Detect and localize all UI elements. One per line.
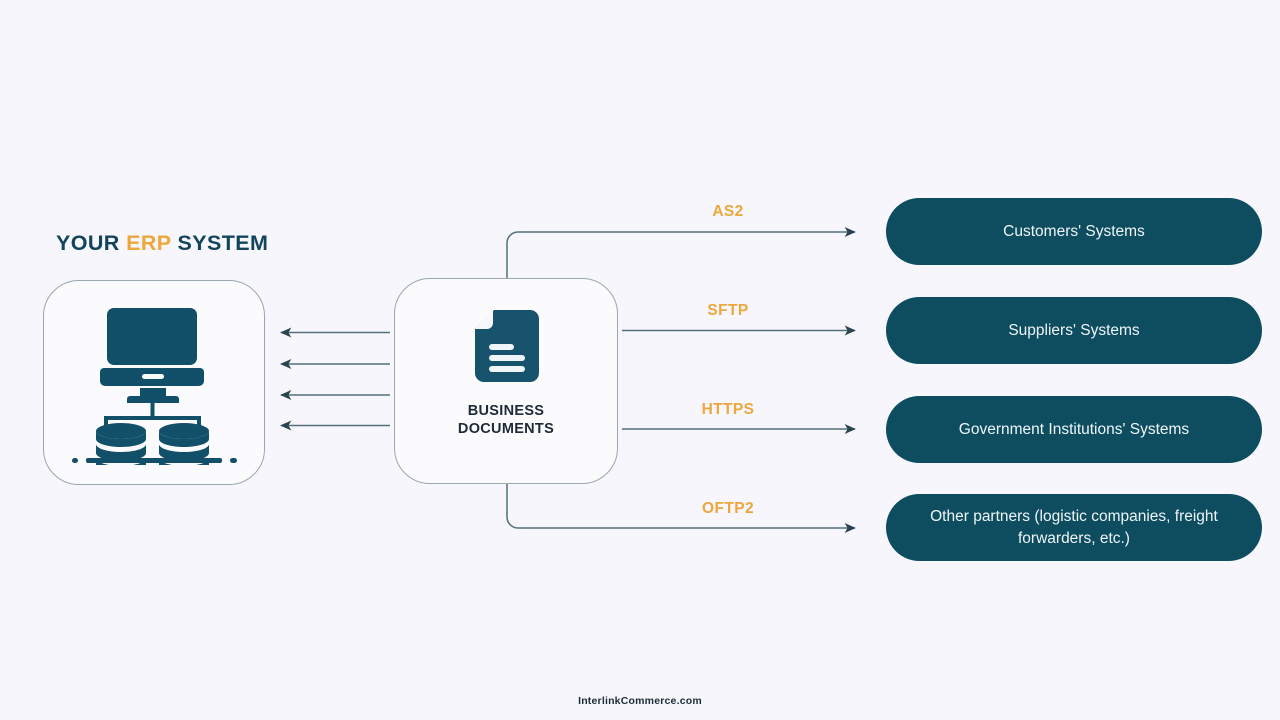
erp-title-accent: ERP	[126, 231, 171, 255]
protocol-label-as2: AS2	[648, 203, 808, 221]
protocol-label-oftp2: OFTP2	[648, 500, 808, 518]
erp-title-suffix: SYSTEM	[178, 231, 269, 255]
footer-branding: InterlinkCommerce.com	[0, 695, 1280, 707]
partner-pill-government: Government Institutions' Systems	[886, 396, 1262, 463]
business-documents-label: BUSINESS DOCUMENTS	[394, 402, 618, 438]
protocol-label-https: HTTPS	[648, 401, 808, 419]
diagram-canvas: YOUR ERP SYSTEM	[0, 0, 1280, 720]
partner-pill-other: Other partners (logistic companies, frei…	[886, 494, 1262, 561]
protocol-label-sftp: SFTP	[648, 302, 808, 320]
erp-title-prefix: YOUR	[56, 231, 120, 255]
partner-pill-suppliers: Suppliers' Systems	[886, 297, 1262, 364]
document-icon	[471, 308, 541, 384]
erp-server-database-icon	[66, 300, 244, 465]
partner-pill-customers: Customers' Systems	[886, 198, 1262, 265]
erp-system-title: YOUR ERP SYSTEM	[56, 231, 268, 256]
flow-line-as2	[507, 232, 855, 278]
